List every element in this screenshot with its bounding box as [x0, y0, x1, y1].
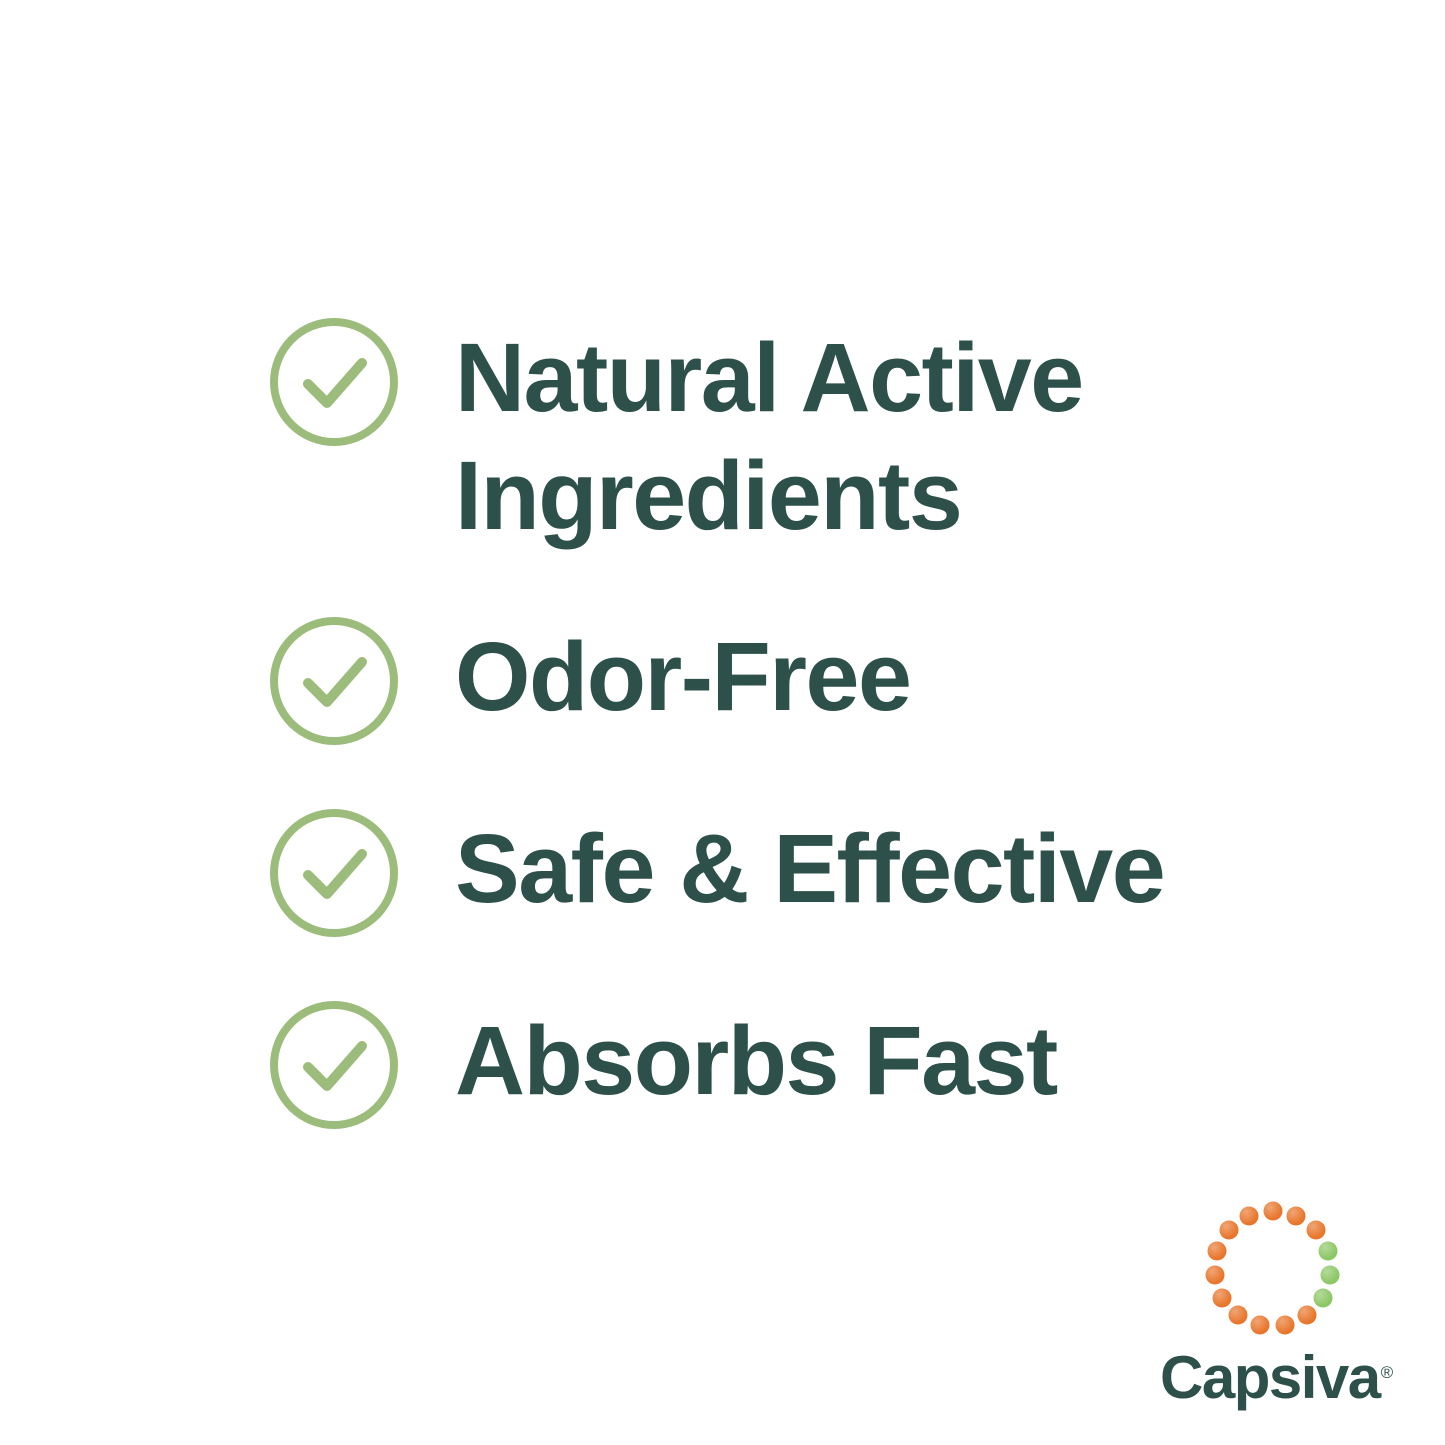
- logo-dot-orange: [1251, 1316, 1270, 1335]
- benefit-item-absorbs-fast: Absorbs Fast: [268, 999, 1228, 1131]
- benefit-label: Safe & Effective: [455, 807, 1164, 928]
- logo-dot-orange: [1275, 1316, 1294, 1335]
- logo-dot-green: [1321, 1265, 1340, 1284]
- logo-dot-orange: [1287, 1206, 1306, 1225]
- logo-dot-orange: [1297, 1306, 1316, 1325]
- benefit-label: Natural Active Ingredients: [455, 316, 1145, 555]
- logo-dot-orange: [1208, 1241, 1227, 1260]
- logo-name: Capsiva: [1160, 1344, 1380, 1411]
- logo-dot-green: [1313, 1288, 1332, 1307]
- logo-dot-orange: [1213, 1288, 1232, 1307]
- logo-dot-orange: [1306, 1220, 1325, 1239]
- brand-logo: Capsiva®: [1160, 1196, 1385, 1386]
- logo-dot-orange: [1229, 1306, 1248, 1325]
- logo-dot-orange: [1205, 1265, 1224, 1284]
- logo-ring-icon: [1200, 1196, 1345, 1341]
- benefit-label: Absorbs Fast: [455, 999, 1057, 1120]
- logo-dot-orange: [1239, 1206, 1258, 1225]
- check-circle-icon: [268, 999, 400, 1131]
- benefit-item-odor-free: Odor-Free: [268, 615, 1228, 747]
- benefits-list: Natural Active Ingredients Odor-Free Saf…: [268, 316, 1228, 1131]
- logo-wordmark: Capsiva®: [1160, 1343, 1385, 1412]
- logo-dot-green: [1318, 1241, 1337, 1260]
- logo-dot-orange: [1220, 1220, 1239, 1239]
- logo-dot-orange: [1263, 1201, 1282, 1220]
- promo-canvas: Natural Active Ingredients Odor-Free Saf…: [0, 0, 1445, 1445]
- benefit-label: Odor-Free: [455, 615, 910, 736]
- benefit-item-natural-active-ingredients: Natural Active Ingredients: [268, 316, 1228, 555]
- registered-trademark-symbol: ®: [1381, 1363, 1394, 1382]
- benefit-item-safe-effective: Safe & Effective: [268, 807, 1228, 939]
- check-circle-icon: [268, 615, 400, 747]
- check-circle-icon: [268, 316, 400, 448]
- check-circle-icon: [268, 807, 400, 939]
